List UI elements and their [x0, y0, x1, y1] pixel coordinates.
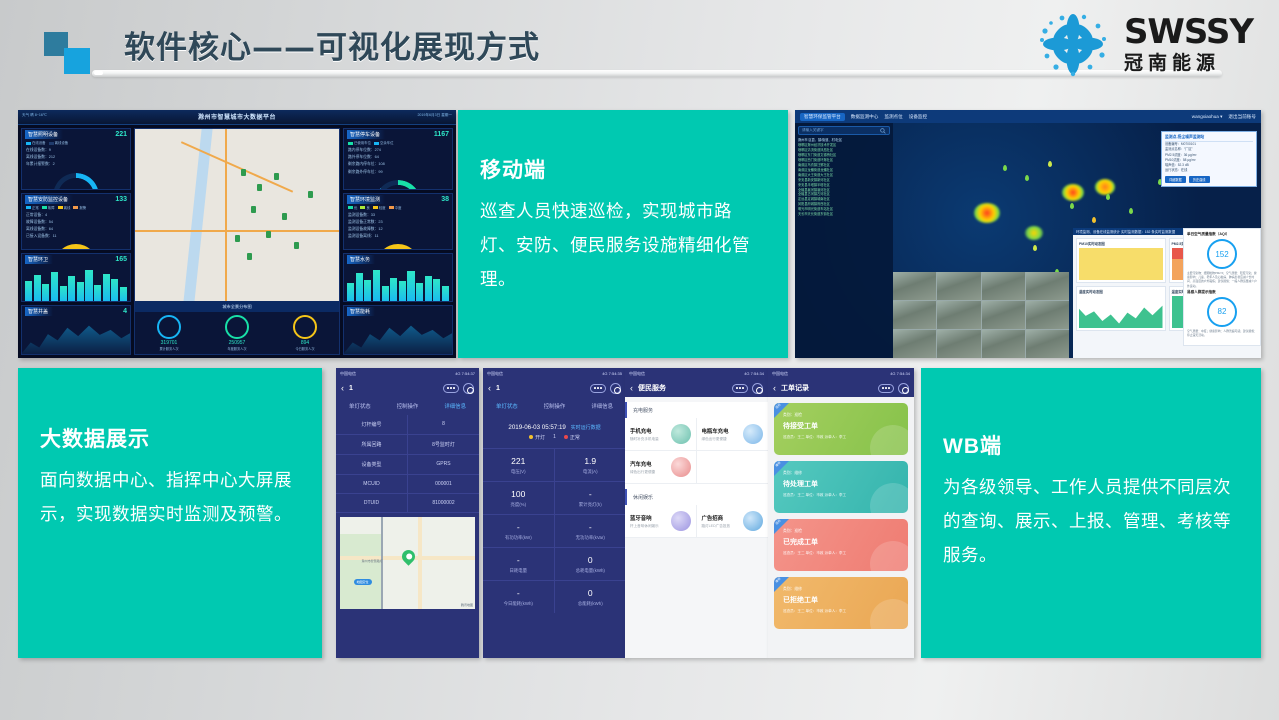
map-marker[interactable]: [1003, 165, 1007, 171]
pie-chart-security: [54, 244, 98, 249]
chart-humidity: 湿度实时动态图: [1076, 286, 1166, 331]
metric-label: 无功功率(kVar): [555, 535, 627, 541]
metric-label: 亮度(%): [483, 502, 554, 508]
service-desc: 路灯LED广告投放: [702, 524, 731, 529]
dashboard-card-sanitation[interactable]: 智慧环卫 165: [21, 253, 131, 303]
gis-nav-devices[interactable]: 设备监控: [909, 114, 927, 120]
status-right: 4G 7:54:37: [455, 371, 475, 376]
service-name: 手机充电: [630, 427, 659, 435]
gis-search-box[interactable]: 请输入关键字: [798, 126, 890, 135]
phone1-tabs[interactable]: 单灯状态 控制操作 详细信息: [336, 397, 479, 415]
aqi-panel: 单日空气质量指数（AQI） 152 主要污染物：细颗粒物PM2.5；空气质量：轻…: [1183, 228, 1261, 346]
kv-row: 剩余路内停车位：108: [348, 161, 448, 168]
phone3-title: 便民服务: [638, 383, 666, 393]
metric-value: 100: [483, 489, 554, 499]
legend-label: 中度: [395, 206, 402, 210]
status-right: 4G 7:54:34: [744, 371, 764, 376]
status-right: 4G 7:54:35: [602, 371, 622, 376]
legend-label: 离线: [64, 206, 71, 210]
camera-thumbnail-grid[interactable]: [893, 272, 1069, 358]
gis-nav-points[interactable]: 监测点位: [884, 114, 902, 120]
decor-square-blue: [64, 48, 90, 74]
kv-row: 正常设备：4: [26, 212, 126, 219]
chart-plot: [1079, 248, 1163, 280]
card-title: 智慧环卫: [25, 255, 53, 264]
back-icon[interactable]: ‹: [773, 384, 776, 393]
dashboard-card-environment[interactable]: 智慧环境监测 38 优 良 轻度 中度 监测设备数：33 监测设备正常数：23 …: [343, 193, 453, 250]
map-stat: 250957 年度服务人次: [225, 315, 249, 351]
service-item-car-charging[interactable]: 汽车充电 绿色出行更便捷: [625, 451, 697, 484]
phone2-metric-grid: 221电压(V) 1.9电流(A) 100亮度(%) -累计亮灯(h) -有功功…: [483, 448, 626, 613]
card-title: 智慧能耗: [347, 307, 375, 316]
card-value: 1167: [434, 131, 449, 138]
row-value: 8号监时灯: [408, 435, 479, 454]
service-desc: 绿色出行更便捷: [702, 437, 729, 442]
metric-label: 有功功率(kW): [483, 535, 554, 541]
workorder-card-rejected[interactable]: 维修 类别：维修 已拒绝工单 巡查员：王二 单位：市政 派单人：李工: [774, 577, 908, 629]
phone-screenshot-workorders[interactable]: 中国电信 4G 7:54:34 ‹ 工单记录 巡检 类别：巡检 待接受工单 巡查…: [768, 368, 914, 658]
tab-lamp-status[interactable]: 单灯状态: [483, 397, 531, 415]
tab-control[interactable]: 控制操作: [384, 397, 432, 415]
stat-label: 今日服务人次: [293, 346, 317, 351]
phone-screenshot-lamp-status[interactable]: 中国电信 4G 7:54:35 ‹ 1 单灯状态 控制操作 详细信息 2019-…: [483, 368, 626, 658]
phone-screenshot-device-detail[interactable]: 中国电信 4G 7:54:37 ‹ 1 单灯状态 控制操作 详细信息 灯杆编号 …: [336, 368, 479, 658]
legend-label: 故障: [48, 206, 55, 210]
back-icon[interactable]: ‹: [488, 384, 491, 393]
service-desc: 杆上音响休闲娱乐: [630, 524, 659, 529]
map-pin[interactable]: [251, 206, 256, 213]
workorder-card-pending-process[interactable]: 维修 类别：维修 待处理工单 巡查员：王二 单位：市政 派单人：李工: [774, 461, 908, 513]
legend-label: 离线设备: [55, 141, 69, 145]
logo-text-en: SWSSY: [1124, 15, 1253, 49]
kv-row: 离线设备数：212: [26, 154, 126, 161]
dashboard-left-column: 智慧照明设备 221 在线设备 离线设备 在线设备数：9 离线设备数：212 年…: [21, 128, 131, 355]
heat-blob: [1095, 179, 1115, 195]
bluetooth-speaker-icon: [671, 511, 691, 531]
metric-cell: 0总耗电量(kWh): [555, 547, 627, 580]
area-chart-manhole: [22, 317, 130, 355]
phone-charging-icon: [671, 424, 691, 444]
map-road: [418, 517, 422, 609]
camera-thumb[interactable]: [893, 301, 936, 329]
bigdata-dashboard-screenshot[interactable]: 天气 晴 8~16℃ 滁州市智慧城市大数据平台 2019年6月3日 星期一 智慧…: [18, 110, 456, 358]
kv-row: 监测设备故障数：12: [348, 226, 448, 233]
service-name: 电瓶车充电: [702, 427, 729, 435]
kv-row: 路内停车位数：274: [348, 147, 448, 154]
map-badge[interactable]: 地图定位: [354, 579, 372, 585]
gis-logout[interactable]: 退出当前账号: [1228, 114, 1256, 120]
panel-mobile-heading: 移动端: [480, 154, 766, 184]
more-icon[interactable]: [443, 384, 459, 393]
phone4-navbar: ‹ 工单记录: [768, 379, 914, 397]
dashboard-card-parking[interactable]: 智慧停车设备 1167 已使用车位 空余车位 路内停车位数：274 路外停车位数…: [343, 128, 453, 190]
metric-value: 0: [555, 588, 627, 598]
phone1-title: 1: [349, 385, 353, 392]
panel-mobile: 移动端 巡查人员快速巡检，实现城市路灯、安防、便民服务设施精细化管理。: [458, 110, 788, 358]
tab-detail[interactable]: 详细信息: [431, 397, 479, 415]
back-icon[interactable]: ‹: [630, 384, 633, 393]
map-pin[interactable]: [235, 235, 240, 242]
timestamp-tag: 实时运行数据: [571, 425, 601, 431]
close-icon[interactable]: [610, 383, 621, 394]
carrier-label: 中国电信: [772, 371, 788, 377]
card-value: 133: [115, 196, 127, 203]
popup-row: 运行状态：在线: [1165, 168, 1253, 173]
camera-thumb[interactable]: [1026, 301, 1069, 329]
phone1-detail-table: 灯杆编号 8 所属回路 8号监时灯 设备类型 GPRS MCUID 000001…: [336, 415, 479, 513]
panel-web: WB端 为各级领导、工作人员提供不同层次的查询、展示、上报、管理、考核等服务。: [921, 368, 1261, 658]
card-sub: 类别：维修: [783, 471, 899, 476]
panel-web-body: 为各级领导、工作人员提供不同层次的查询、展示、上报、管理、考核等服务。: [943, 470, 1239, 572]
logo-text-cn: 冠南能源: [1124, 54, 1220, 73]
dashboard-card-water[interactable]: 智慧水务: [343, 253, 453, 303]
card-rows: 在线设备数：9 离线设备数：212 年累计报警数：2: [22, 145, 130, 171]
metric-cell: 221电压(V): [483, 448, 555, 481]
card-value: 4: [123, 308, 127, 315]
service-item-ebike-charging[interactable]: 电瓶车充电 绿色出行更便捷: [697, 418, 769, 451]
phone2-tabs[interactable]: 单灯状态 控制操作 详细信息: [483, 397, 626, 415]
heat-blob: [1062, 184, 1084, 201]
area-chart-energy: [344, 317, 452, 355]
map-pin[interactable]: [274, 173, 279, 180]
gis-search-placeholder: 请输入关键字: [802, 128, 824, 133]
bar-chart-water: [344, 265, 452, 303]
gis-map-canvas[interactable]: 监测点-扬尘噪声监测站 设备编号：M0700101 监测点名称：“厂区” PM2…: [893, 123, 1261, 358]
legend-label: 优: [354, 206, 357, 210]
map-marker[interactable]: [1092, 217, 1096, 223]
status-dot-normal: [564, 435, 568, 439]
camera-thumb[interactable]: [893, 272, 936, 300]
map-river: [182, 129, 212, 312]
service-item-phone-charging[interactable]: 手机充电 随时补充手机电量: [625, 418, 697, 451]
kv-row: 监测设备数：33: [348, 212, 448, 219]
card-title: 智慧照明设备: [25, 130, 63, 139]
legend-label: 在线设备: [32, 141, 46, 145]
panel-bigdata-heading: 大数据展示: [40, 423, 300, 453]
map-pin[interactable]: [308, 191, 313, 198]
phone4-title: 工单记录: [781, 383, 809, 393]
map-marker[interactable]: [1025, 175, 1029, 181]
more-icon[interactable]: [590, 384, 606, 393]
popup-button-detail[interactable]: 详细数据: [1165, 176, 1186, 183]
table-row: 设备类型 GPRS: [336, 455, 479, 475]
card-sub: 类别：维修: [783, 587, 899, 592]
panel-mobile-body: 巡查人员快速巡检，实现城市路灯、安防、便民服务设施精细化管理。: [480, 194, 766, 296]
heat-blob: [974, 203, 1000, 223]
search-icon: [880, 128, 886, 134]
heat-blob: [1025, 226, 1043, 240]
service-item-empty: [697, 451, 769, 484]
phone2-statusbar: 中国电信 4G 7:54:35: [483, 368, 626, 379]
chart-title: PM10实时动态图: [1079, 241, 1163, 246]
metric-cell: -有功功率(kW): [483, 514, 555, 547]
kv-row: 在线设备数：9: [26, 147, 126, 154]
tab-control[interactable]: 控制操作: [531, 397, 579, 415]
camera-thumb[interactable]: [982, 272, 1025, 300]
phone2-state-row: 开灯 1 正常: [483, 434, 626, 448]
kv-row: 离线设备数：64: [26, 226, 126, 233]
kv-row: 已接入设备数：11: [26, 233, 126, 240]
more-icon[interactable]: [878, 384, 894, 393]
chart-plot: [1079, 296, 1163, 328]
tab-lamp-status[interactable]: 单灯状态: [336, 397, 384, 415]
metric-cell: 100亮度(%): [483, 481, 555, 514]
gis-point-popup[interactable]: 监测点-扬尘噪声监测站 设备编号：M0700101 监测点名称：“厂区” PM2…: [1161, 131, 1257, 187]
card-rows: 正常设备：4 故障设备数：54 离线设备数：64 已接入设备数：11: [22, 210, 130, 243]
status-right: 4G 7:54:34: [890, 371, 910, 376]
aqi-description: 主要污染物：细颗粒物PM2.5；空气质量：轻度污染；健康影响：儿童、老年人及心脏…: [1187, 271, 1257, 288]
phone1-statusbar: 中国电信 4G 7:54:37: [336, 368, 479, 379]
popup-title: 监测点-扬尘噪声监测站: [1165, 135, 1253, 142]
metric-cell: 0总能耗(kWh): [555, 580, 627, 613]
service-item-bluetooth-speaker[interactable]: 蓝牙音响 杆上音响休闲娱乐: [625, 505, 697, 538]
metric-cell: -日耗电量: [483, 547, 555, 580]
service-grid-charging: 手机充电 随时补充手机电量 电瓶车充电 绿色出行更便捷 汽车充电 绿色出行更便捷: [625, 418, 768, 484]
legend-label: 报警: [79, 206, 86, 210]
state-label-normal: 正常: [570, 435, 580, 441]
dashboard-map-column: 城市全景分布图 319701 累计服务人次 250957 年度服务人次: [134, 128, 340, 355]
panel-web-heading: WB端: [943, 430, 1239, 460]
gis-toolbar[interactable]: 智慧环保监管平台 数据监测中心 监测点位 设备监控 wangxiaohua ▾ …: [795, 110, 1261, 123]
row-key: 设备类型: [336, 455, 408, 474]
gis-chart-panel: 环境监测、设备在线监测统计 实时监测数据：152 条实时监测数据 PM10实时动…: [1073, 228, 1261, 358]
aqi-sub-title: 易感人群提示指数: [1187, 290, 1257, 295]
phone3-navbar: ‹ 便民服务: [625, 379, 768, 397]
more-icon[interactable]: [732, 384, 748, 393]
section-heading-entertainment: 休闲娱乐: [625, 489, 768, 505]
map-green-area: [340, 534, 383, 609]
close-icon[interactable]: [752, 383, 763, 394]
camera-thumb[interactable]: [1026, 272, 1069, 300]
page-title: 软件核心——可视化展现方式: [124, 22, 540, 67]
slide-header: 软件核心——可视化展现方式: [0, 0, 1279, 92]
dashboard-date: 2019年6月3日 星期一: [417, 113, 452, 118]
card-title: 智慧安防监控设备: [25, 195, 73, 204]
phone3-statusbar: 中国电信 4G 7:54:34: [625, 368, 768, 379]
row-value: 81000002: [408, 494, 479, 512]
camera-thumb[interactable]: [982, 301, 1025, 329]
legend-label: 已使用车位: [354, 141, 371, 145]
gis-user[interactable]: wangxiaohua ▾: [1192, 114, 1223, 120]
donut-chart-parking: [375, 180, 421, 190]
map-marker[interactable]: [1129, 208, 1133, 214]
map-label: 滁州市智慧路灯: [362, 559, 383, 563]
row-value: GPRS: [408, 455, 479, 474]
metric-value: -: [483, 588, 554, 598]
card-title: 智慧环境监测: [347, 195, 385, 204]
map-marker[interactable]: [1033, 245, 1037, 251]
timestamp: 2019-06-03 05:57:19: [508, 424, 565, 431]
map-marker[interactable]: [1106, 194, 1110, 200]
legend-label: 轻度: [379, 206, 386, 210]
phone2-timestamp-row: 2019-06-03 05:57:19 实时运行数据: [483, 415, 626, 434]
table-row: DTUID 81000002: [336, 494, 479, 513]
metric-cell: -今日能耗(kWh): [483, 580, 555, 613]
aqi-sub-description: 空气质量：中度；健康影响：人群普遍可感；建议措施：停止露天活动。: [1187, 329, 1257, 337]
phone-screenshot-services[interactable]: 中国电信 4G 7:54:34 ‹ 便民服务 充电服务 手机充电 随时补充手机电…: [625, 368, 768, 658]
dashboard-card-manhole[interactable]: 智慧井盖 4: [21, 305, 131, 355]
card-title: 智慧停车设备: [347, 130, 385, 139]
metric-value: 0: [555, 555, 627, 565]
ebike-charging-icon: [743, 424, 763, 444]
row-key: 灯杆编号: [336, 415, 408, 434]
aqi-sub-value: 82: [1218, 307, 1227, 316]
metric-cell: 1.9电流(A): [555, 448, 627, 481]
metric-value: 1.9: [555, 456, 627, 466]
service-name: 汽车充电: [630, 460, 655, 468]
service-desc: 随时补充手机电量: [630, 437, 659, 442]
dashboard-card-lighting[interactable]: 智慧照明设备 221 在线设备 离线设备 在线设备数：9 离线设备数：212 年…: [21, 128, 131, 190]
panel-bigdata: 大数据展示 面向数据中心、指挥中心大屏展示，实现数据实时监测及预警。: [18, 368, 322, 658]
legend-label: 正常: [32, 206, 39, 210]
state-label-on: 开灯: [535, 435, 545, 441]
dashboard-weather: 天气 晴 8~16℃: [22, 113, 47, 118]
card-value: 38: [441, 196, 449, 203]
map-road: [225, 129, 227, 312]
phone2-navbar: ‹ 1: [483, 379, 626, 397]
map-marker[interactable]: [1070, 203, 1074, 209]
card-sub: 类别：巡检: [783, 413, 899, 418]
stat-ring: [225, 315, 249, 339]
map-stats: 319701 累计服务人次 250957 年度服务人次 894 今日服务人次: [135, 312, 339, 354]
back-icon[interactable]: ‹: [341, 384, 344, 393]
workorder-card-completed[interactable]: 巡检 类别：巡检 已完成工单 巡查员：王二 单位：市政 派单人：李工: [774, 519, 908, 571]
row-value: 000001: [408, 475, 479, 493]
dashboard-title: 滁州市智慧城市大数据平台: [198, 112, 276, 121]
table-row: 所属回路 8号监时灯: [336, 435, 479, 455]
gis-nav-datacenter[interactable]: 数据监测中心: [851, 114, 879, 120]
card-rows: 路内停车位数：274 路外停车位数：64 剩余路内停车位：108 剩余路外停车位…: [344, 145, 452, 178]
metric-label: 电流(A): [555, 469, 627, 475]
stat-label: 累计服务人次: [157, 346, 181, 351]
phone1-map[interactable]: 滁州市智慧路灯 地图定位 腾讯地图: [340, 517, 475, 609]
map-pin[interactable]: [257, 184, 262, 191]
camera-thumb[interactable]: [937, 330, 980, 358]
table-row: MCUID 000001: [336, 475, 479, 494]
metric-value: -: [555, 489, 627, 499]
metric-value: 221: [483, 456, 554, 466]
service-grid-entertainment: 蓝牙音响 杆上音响休闲娱乐 广告招商 路灯LED广告投放: [625, 505, 768, 538]
aqi-sub-gauge: 82: [1207, 297, 1237, 327]
metric-label: 总耗电量(kWh): [555, 568, 627, 574]
workorder-card-pending-accept[interactable]: 巡检 类别：巡检 待接受工单 巡查员：王二 单位：市政 派单人：李工: [774, 403, 908, 455]
map-caption: 城市全景分布图: [135, 301, 339, 312]
carrier-label: 中国电信: [340, 371, 356, 377]
card-value: 165: [115, 256, 127, 263]
dashboard-card-security[interactable]: 智慧安防监控设备 133 正常 故障 离线 报警 正常设备：4 故障设备数：54…: [21, 193, 131, 250]
card-title: 智慧水务: [347, 255, 375, 264]
donut-chart-lighting: [53, 173, 99, 190]
dashboard-topbar: 天气 晴 8~16℃ 滁州市智慧城市大数据平台 2019年6月3日 星期一: [18, 110, 456, 125]
kv-row: 故障设备数：54: [26, 219, 126, 226]
gis-nav-platform[interactable]: 智慧环保监管平台: [800, 113, 845, 121]
card-sub: 类别：巡检: [783, 529, 899, 534]
camera-thumb[interactable]: [937, 301, 980, 329]
phone2-title: 1: [496, 385, 500, 392]
chart-pm10: PM10实时动态图: [1076, 238, 1166, 283]
kv-row: 年累计报警数：2: [26, 161, 126, 168]
metric-value: -: [555, 522, 627, 532]
map-pin[interactable]: [294, 242, 299, 249]
phone4-statusbar: 中国电信 4G 7:54:34: [768, 368, 914, 379]
row-key: MCUID: [336, 475, 408, 493]
map-pin[interactable]: [266, 231, 271, 238]
map-location-pin[interactable]: [399, 547, 417, 565]
metric-label: 电压(V): [483, 469, 554, 475]
legend-label: 空余车位: [380, 141, 394, 145]
map-stat: 319701 累计服务人次: [157, 315, 181, 351]
carrier-label: 中国电信: [487, 371, 503, 377]
row-key: 所属回路: [336, 435, 408, 454]
card-value: 221: [115, 131, 127, 138]
card-title: 智慧井盖: [25, 307, 53, 316]
chart-title: 湿度实时动态图: [1079, 289, 1163, 294]
service-item-advertising[interactable]: 广告招商 路灯LED广告投放: [697, 505, 769, 538]
metric-label: 日耗电量: [483, 568, 554, 574]
dashboard-city-map[interactable]: 城市全景分布图 319701 累计服务人次 250957 年度服务人次: [134, 128, 340, 355]
service-name: 广告招商: [702, 514, 731, 522]
camera-thumb[interactable]: [893, 330, 936, 358]
status-dot-on: [529, 435, 533, 439]
row-value: 8: [408, 415, 479, 434]
tab-detail[interactable]: 详细信息: [578, 397, 626, 415]
metric-cell: -累计亮灯(h): [555, 481, 627, 514]
aqi-value: 152: [1215, 250, 1228, 259]
card-rows: 监测设备数：33 监测设备正常数：23 监测设备故障数：12 监测设备离线：11: [344, 210, 452, 243]
dashboard-right-column: 智慧停车设备 1167 已使用车位 空余车位 路内停车位数：274 路外停车位数…: [343, 128, 453, 355]
camera-thumb[interactable]: [982, 330, 1025, 358]
map-canvas[interactable]: 城市全景分布图: [135, 129, 339, 312]
state-value-on: 1: [553, 434, 556, 441]
bar-chart-sanitation: [22, 265, 130, 303]
metric-value: -: [483, 522, 554, 532]
map-credit: 腾讯地图: [461, 603, 473, 607]
map-marker[interactable]: [1048, 161, 1052, 167]
phone1-navbar: ‹ 1: [336, 379, 479, 397]
metric-cell: -无功功率(kVar): [555, 514, 627, 547]
metric-label: 总能耗(kWh): [555, 601, 627, 607]
advertising-icon: [743, 511, 763, 531]
camera-thumb[interactable]: [937, 272, 980, 300]
section-heading-charging: 充电服务: [625, 402, 768, 418]
map-pin[interactable]: [241, 169, 246, 176]
map-stat: 894 今日服务人次: [293, 315, 317, 351]
company-logo: SWSSY 冠南能源: [1032, 8, 1253, 80]
legend-label: 良: [366, 206, 369, 210]
metric-label: 今日能耗(kWh): [483, 601, 554, 607]
service-name: 蓝牙音响: [630, 514, 659, 522]
camera-thumb[interactable]: [1026, 330, 1069, 358]
tree-item[interactable]: 天长市天长街道东街社区: [798, 212, 890, 217]
map-pin[interactable]: [282, 213, 287, 220]
stat-label: 年度服务人次: [225, 346, 249, 351]
water-droplet-icon: [1032, 9, 1114, 79]
carrier-label: 中国电信: [629, 371, 645, 377]
popup-button-history[interactable]: 历史曲线: [1189, 176, 1210, 183]
dashboard-card-energy[interactable]: 智慧能耗: [343, 305, 453, 355]
kv-row: 剩余路外停车位：99: [348, 169, 448, 176]
map-pin[interactable]: [247, 253, 252, 260]
map-road: [135, 230, 339, 232]
close-icon[interactable]: [463, 383, 474, 394]
service-desc: 绿色出行更便捷: [630, 470, 655, 475]
kv-row: 监测设备离线：11: [348, 233, 448, 240]
close-icon[interactable]: [898, 383, 909, 394]
aqi-gauge: 152: [1207, 239, 1237, 269]
panel-bigdata-body: 面向数据中心、指挥中心大屏展示，实现数据实时监测及预警。: [40, 463, 300, 531]
gis-tree-sidebar[interactable]: 请输入关键字 滁州市 区县、镇/街道、村/社区 琅琊区滁州经济技术开发区 琅琊区…: [795, 123, 893, 358]
gis-platform-screenshot[interactable]: 智慧环保监管平台 数据监测中心 监测点位 设备监控 wangxiaohua ▾ …: [795, 110, 1261, 358]
